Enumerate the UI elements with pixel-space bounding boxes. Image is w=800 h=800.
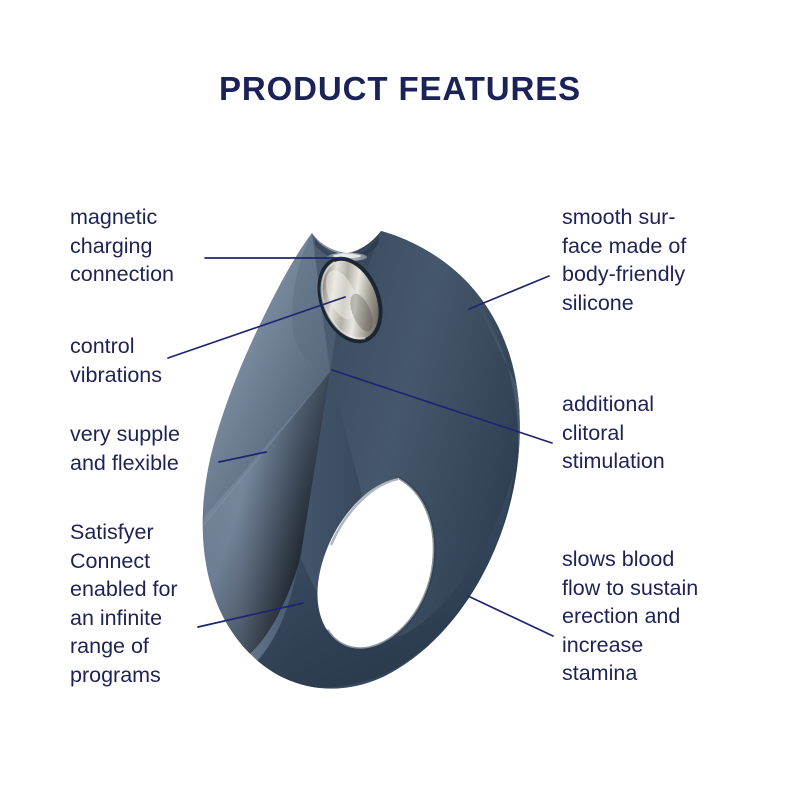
leader-smooth-surface <box>469 276 549 309</box>
leader-additional-clitoral <box>332 370 552 443</box>
leader-slows-blood-flow <box>468 596 553 636</box>
leader-lines <box>0 0 800 800</box>
product-features-infographic: PRODUCT FEATURES <box>0 0 800 800</box>
leader-very-supple <box>219 452 266 462</box>
leader-control-vibrations <box>168 297 345 358</box>
leader-satisfyer-connect <box>198 603 303 627</box>
